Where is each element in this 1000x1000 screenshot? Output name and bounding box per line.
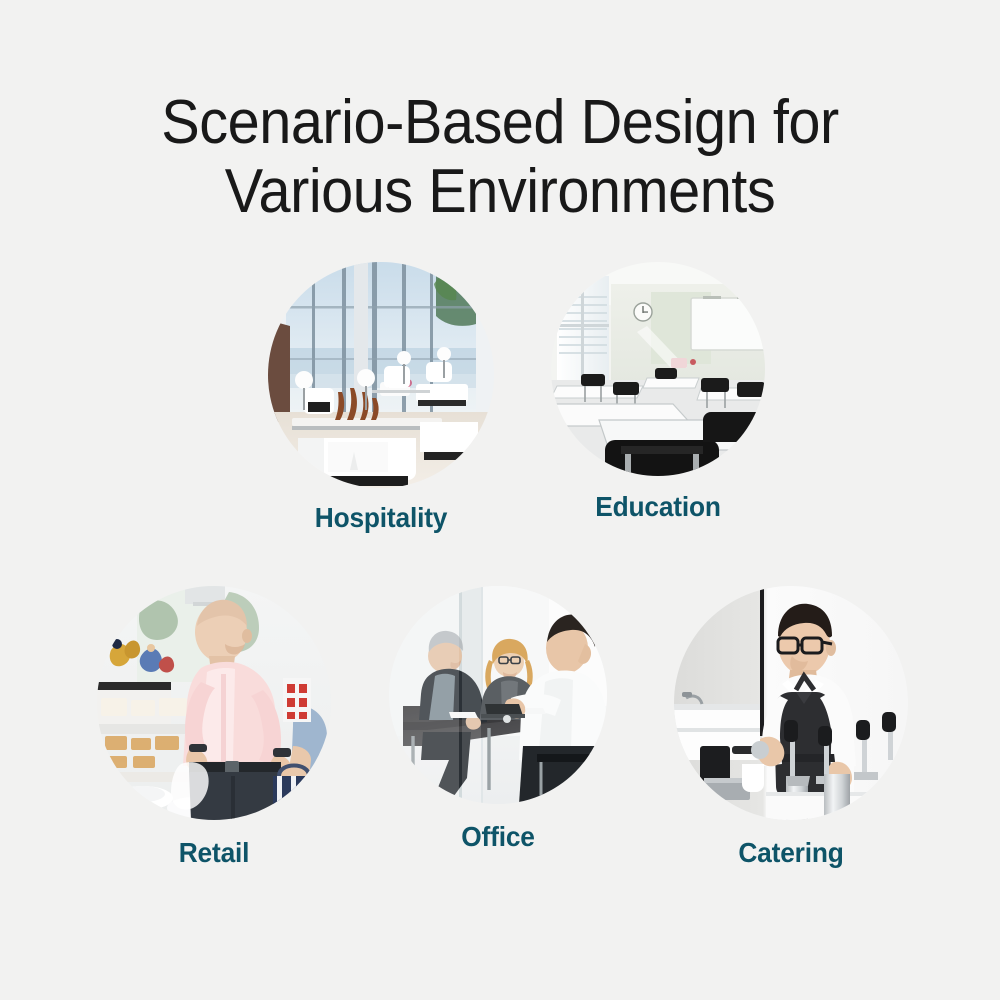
office-image xyxy=(389,586,607,804)
scenario-row-top: Hospitality xyxy=(0,262,1000,552)
scenario-card-retail[interactable]: Retail xyxy=(97,586,331,820)
scenario-row-bottom: Retail xyxy=(0,586,1000,886)
scenario-label-catering: Catering xyxy=(738,837,843,869)
page-title: Scenario-Based Design for Various Enviro… xyxy=(35,88,965,227)
retail-image xyxy=(97,586,331,820)
hospitality-image xyxy=(268,262,494,488)
scenario-label-retail: Retail xyxy=(179,837,250,869)
scenario-card-catering[interactable]: Catering xyxy=(674,586,908,820)
scenario-label-education: Education xyxy=(595,491,721,523)
scenario-card-hospitality[interactable]: Hospitality xyxy=(268,262,494,488)
scenario-overview-page: Scenario-Based Design for Various Enviro… xyxy=(0,0,1000,1000)
education-image xyxy=(551,262,765,476)
catering-image xyxy=(674,586,908,820)
scenario-card-education[interactable]: Education xyxy=(551,262,765,476)
scenario-label-hospitality: Hospitality xyxy=(315,502,447,534)
scenario-label-office: Office xyxy=(461,821,534,853)
scenario-card-office[interactable]: Office xyxy=(389,586,607,804)
